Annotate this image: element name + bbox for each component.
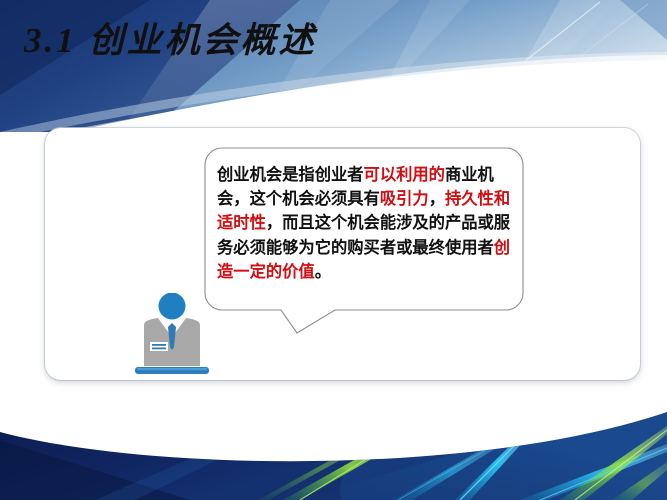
presentation-slide: 3.1 创业机会概述 创业机会是指创业者可以利用的商 [0, 0, 667, 500]
speech-bubble: 创业机会是指创业者可以利用的商业机会，这个机会必须具有吸引力，持久性和适时性，而… [204, 147, 524, 337]
callout-plain: 创业机会是指创业者 [217, 166, 364, 184]
callout-highlight: 可以利用的 [364, 166, 445, 184]
callout-plain: 。 [315, 263, 331, 281]
footer-decoration [0, 370, 667, 500]
callout-plain: ， [429, 190, 445, 208]
callout-text: 创业机会是指创业者可以利用的商业机会，这个机会必须具有吸引力，持久性和适时性，而… [217, 163, 513, 284]
callout-highlight: 吸引力 [380, 190, 429, 208]
footer-graphic [0, 370, 667, 500]
businessman-icon [128, 293, 216, 378]
page-title: 3.1 创业机会概述 [24, 12, 317, 63]
businessman-glyph [128, 293, 216, 378]
